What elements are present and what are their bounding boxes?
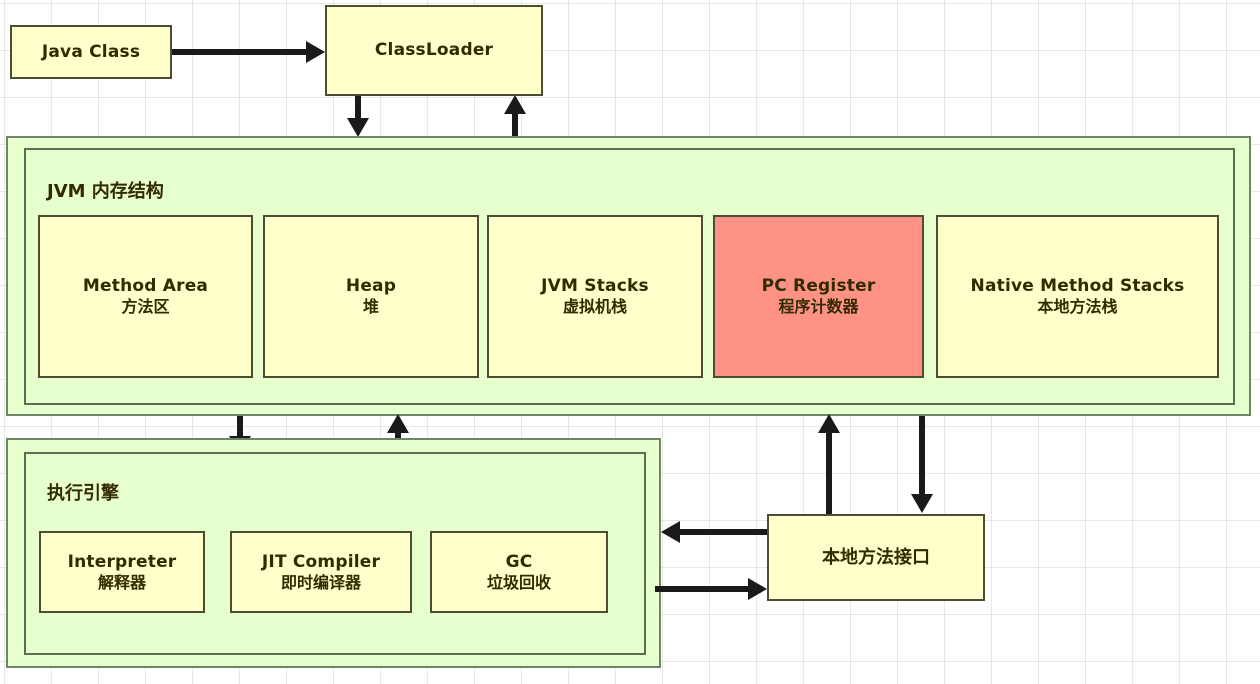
jvm-architecture-diagram: Java Class ClassLoader JVM 内存结构 Method A… [0,0,1260,684]
arrow-classloader-to-jvm-shaft [355,96,361,120]
arrow-native-interface-to-engine-head [661,521,680,543]
arrow-classloader-to-jvm-head [347,118,369,137]
component-gc-label-en: GC [506,552,533,573]
component-gc[interactable]: GC 垃圾回收 [430,531,608,613]
region-heap-label-cn: 堆 [363,297,379,317]
region-method-area-label-cn: 方法区 [121,297,169,317]
arrow-jvm-to-classloader-shaft [512,113,518,136]
node-java-class-label: Java Class [42,42,140,63]
component-interpreter-label-en: Interpreter [68,552,177,573]
arrow-engine-to-jvm-head [387,414,409,433]
region-native-method-stacks-label-en: Native Method Stacks [971,276,1185,297]
arrow-engine-to-native-interface-head [748,578,767,600]
node-native-method-interface[interactable]: 本地方法接口 [767,514,985,601]
component-jit-compiler-label-en: JIT Compiler [262,552,380,573]
region-native-method-stacks-label-cn: 本地方法栈 [1037,297,1117,317]
region-native-method-stacks[interactable]: Native Method Stacks 本地方法栈 [936,215,1219,378]
arrow-native-interface-to-engine-shaft [680,529,767,535]
container-execution-engine-label: 执行引擎 [47,479,119,505]
arrow-engine-to-native-interface-shaft [655,586,749,592]
region-pc-register[interactable]: PC Register 程序计数器 [713,215,924,378]
arrow-jvm-to-classloader-head [504,95,526,114]
component-jit-compiler-label-cn: 即时编译器 [281,573,361,593]
node-java-class[interactable]: Java Class [10,25,172,79]
region-pc-register-label-cn: 程序计数器 [778,297,858,317]
node-native-method-interface-label: 本地方法接口 [822,547,930,569]
arrow-native-interface-to-jvm-shaft [826,432,832,516]
arrow-java-class-to-classloader-head [306,41,325,63]
node-classloader[interactable]: ClassLoader [325,5,543,96]
component-jit-compiler[interactable]: JIT Compiler 即时编译器 [230,531,412,613]
arrow-jvm-to-engine-shaft [237,416,243,438]
region-heap-label-en: Heap [346,276,396,297]
node-classloader-label: ClassLoader [375,40,493,61]
region-method-area-label-en: Method Area [83,276,208,297]
region-heap[interactable]: Heap 堆 [263,215,479,378]
arrow-jvm-to-native-interface-head [911,494,933,513]
component-gc-label-cn: 垃圾回收 [487,573,551,593]
region-pc-register-label-en: PC Register [762,276,876,297]
container-jvm-memory-label: JVM 内存结构 [47,177,164,203]
region-jvm-stacks-label-cn: 虚拟机栈 [563,297,627,317]
arrow-native-interface-to-jvm-head [818,414,840,433]
arrow-jvm-to-native-interface-shaft [919,416,925,496]
region-jvm-stacks[interactable]: JVM Stacks 虚拟机栈 [487,215,703,378]
region-jvm-stacks-label-en: JVM Stacks [541,276,649,297]
component-interpreter-label-cn: 解释器 [98,573,146,593]
component-interpreter[interactable]: Interpreter 解释器 [39,531,205,613]
arrow-java-class-to-classloader-shaft [172,49,308,55]
region-method-area[interactable]: Method Area 方法区 [38,215,253,378]
